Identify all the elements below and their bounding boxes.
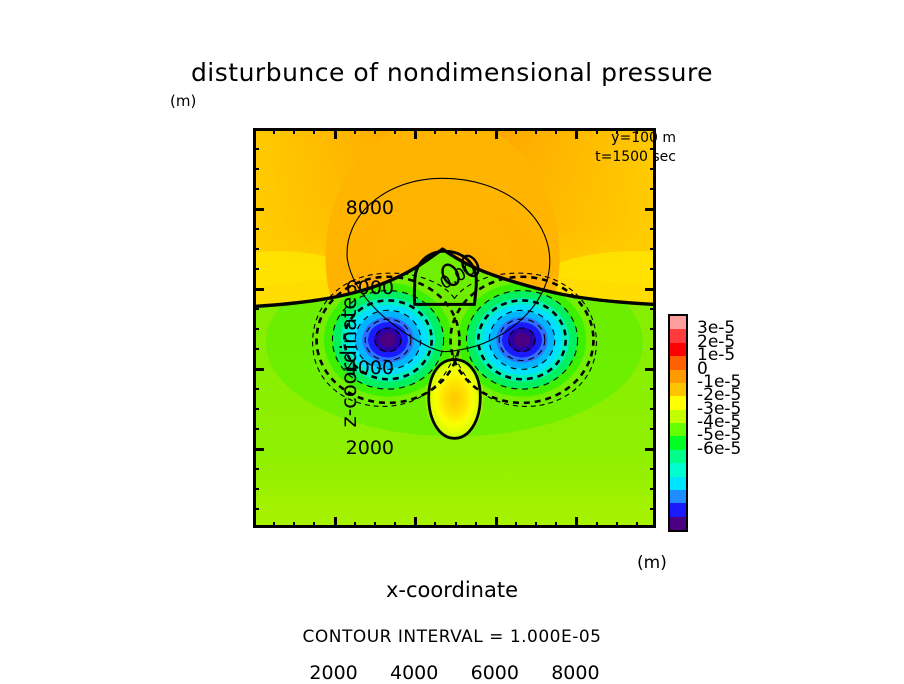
colorbar-band <box>670 503 686 516</box>
y-tick-left <box>253 188 259 190</box>
x-tick-bottom <box>575 517 578 528</box>
y-tick-left <box>253 148 259 150</box>
colorbar-band <box>670 517 686 530</box>
y-tick-right <box>650 308 656 310</box>
x-tick-bottom <box>636 522 638 528</box>
x-tick-bottom <box>414 517 417 528</box>
y-tick-left <box>253 408 259 410</box>
colorbar-band <box>670 316 686 329</box>
x-tick-bottom <box>354 522 356 528</box>
y-tick-right <box>650 488 656 490</box>
x-tick-bottom <box>535 522 537 528</box>
page-title: disturbunce of nondimensional pressure <box>0 58 904 87</box>
x-tick-top <box>313 128 315 134</box>
x-tick-bottom <box>596 522 598 528</box>
contour-interval-caption: CONTOUR INTERVAL = 1.000E-05 <box>0 627 904 647</box>
x-tick-top <box>515 128 517 134</box>
x-tick-top <box>434 128 436 134</box>
x-tick-top <box>535 128 537 134</box>
x-axis-label: x-coordinate <box>0 578 904 602</box>
x-tick-top <box>414 128 417 139</box>
x-tick-top <box>374 128 376 134</box>
y-axis-label: z-coordinate <box>337 232 361 492</box>
x-tick-top <box>495 128 498 139</box>
y-tick-right <box>645 288 656 291</box>
x-tick-bottom <box>374 522 376 528</box>
y-tick-right <box>650 268 656 270</box>
y-tick-right <box>650 388 656 390</box>
x-tick-label: 6000 <box>471 662 519 684</box>
y-tick-left <box>253 228 259 230</box>
figure-canvas: disturbunce of nondimensional pressure (… <box>0 0 904 654</box>
y-tick-right <box>650 428 656 430</box>
x-tick-label: 2000 <box>309 662 357 684</box>
x-axis-units: (m) <box>637 553 667 573</box>
x-tick-bottom <box>293 522 295 528</box>
colorbar-band <box>670 356 686 369</box>
y-tick-right <box>650 408 656 410</box>
x-tick-top <box>354 128 356 134</box>
y-tick-left <box>253 268 259 270</box>
x-tick-top <box>475 128 477 134</box>
y-tick-right <box>645 368 656 371</box>
x-tick-bottom <box>475 522 477 528</box>
x-tick-label: 4000 <box>390 662 438 684</box>
y-tick-right <box>645 208 656 211</box>
x-tick-top <box>616 128 618 134</box>
y-tick-right <box>650 228 656 230</box>
colorbar-band <box>670 343 686 356</box>
x-tick-bottom <box>616 522 618 528</box>
y-tick-right <box>645 448 656 451</box>
colorbar-band <box>670 329 686 342</box>
x-tick-top <box>273 128 275 134</box>
x-tick-bottom <box>273 522 275 528</box>
x-tick-bottom <box>515 522 517 528</box>
y-tick-right <box>650 468 656 470</box>
y-tick-left <box>253 508 259 510</box>
x-tick-top <box>555 128 557 134</box>
colorbar-band <box>670 436 686 449</box>
y-tick-left <box>253 388 259 390</box>
colorbar-band <box>670 490 686 503</box>
y-tick-left <box>253 168 259 170</box>
colorbar-band <box>670 463 686 476</box>
x-tick-top <box>455 128 457 134</box>
colorbar-band <box>670 410 686 423</box>
colorbar-band <box>670 396 686 409</box>
x-tick-bottom <box>334 517 337 528</box>
y-tick-left <box>253 348 259 350</box>
y-tick-left <box>253 468 259 470</box>
annotation-t: t=1500 sec <box>595 149 676 165</box>
x-tick-top <box>334 128 337 139</box>
y-tick-left <box>253 328 259 330</box>
colorbar-band <box>670 477 686 490</box>
x-tick-top <box>596 128 598 134</box>
colorbar-tick-label: -6e-5 <box>697 439 741 459</box>
x-tick-bottom <box>555 522 557 528</box>
y-tick-right <box>650 348 656 350</box>
x-tick-label: 8000 <box>551 662 599 684</box>
colorbar-band <box>670 450 686 463</box>
y-tick-right <box>650 248 656 250</box>
y-tick-right <box>650 168 656 170</box>
title-units: (m) <box>170 92 196 110</box>
x-tick-bottom <box>455 522 457 528</box>
y-tick-left <box>253 448 264 451</box>
colorbar-band <box>670 383 686 396</box>
colorbar[interactable] <box>668 314 688 532</box>
x-tick-bottom <box>394 522 396 528</box>
plot-area: 0.00 y=100 m t=1500 sec 2000400060008000… <box>253 128 656 528</box>
x-tick-top <box>293 128 295 134</box>
y-tick-left <box>253 368 264 371</box>
x-tick-bottom <box>434 522 436 528</box>
x-tick-bottom <box>495 517 498 528</box>
colorbar-band <box>670 423 686 436</box>
contour-field: 0.00 <box>256 131 653 525</box>
y-tick-left <box>253 308 259 310</box>
x-tick-top <box>394 128 396 134</box>
x-tick-top <box>575 128 578 139</box>
y-tick-right <box>650 188 656 190</box>
y-tick-left <box>253 208 264 211</box>
y-tick-left <box>253 248 259 250</box>
x-tick-top <box>636 128 638 134</box>
x-tick-bottom <box>313 522 315 528</box>
plot-frame: 0.00 <box>253 128 656 528</box>
colorbar-band <box>670 370 686 383</box>
y-tick-right <box>650 508 656 510</box>
y-tick-left <box>253 428 259 430</box>
y-tick-label: 8000 <box>346 197 394 219</box>
y-tick-left <box>253 488 259 490</box>
y-tick-left <box>253 288 264 291</box>
y-tick-right <box>650 148 656 150</box>
annotation-y: y=100 m <box>611 130 676 146</box>
y-tick-right <box>650 328 656 330</box>
